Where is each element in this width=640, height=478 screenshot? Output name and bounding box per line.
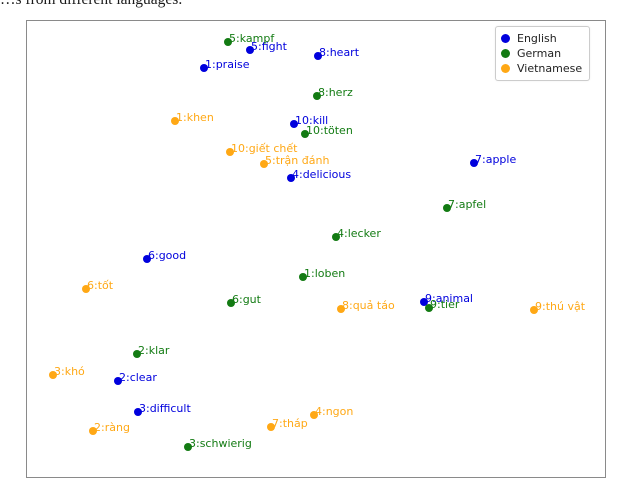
legend-item-vietnamese: Vietnamese [501, 61, 582, 76]
legend-swatch-icon [501, 64, 510, 73]
scatter-point-label: 6:good [148, 250, 186, 262]
scatter-point-label: 3:difficult [139, 403, 191, 415]
chart-legend: EnglishGermanVietnamese [495, 26, 590, 81]
scatter-point-label: 6:gut [232, 294, 261, 306]
legend-item-label: Vietnamese [517, 62, 582, 75]
legend-item-german: German [501, 46, 582, 61]
scatter-point-label: 4:ngon [315, 406, 353, 418]
scatter-point-label: 6:tốt [87, 280, 113, 292]
scatter-point-label: 2:ràng [94, 422, 130, 434]
scatter-point-label: 8:quả táo [342, 300, 395, 312]
scatter-point-label: 4:lecker [337, 228, 381, 240]
scatter-point-label: 8:heart [319, 47, 359, 59]
scatter-point-label: 5:kampf [229, 33, 274, 45]
scatter-point-label: 7:apfel [448, 199, 486, 211]
scatter-point-label: 5:trận đánh [265, 155, 329, 167]
scatter-point-label: 7:tháp [272, 418, 308, 430]
scatter-point-label: 2:klar [138, 345, 169, 357]
scatter-point-label: 9:thú vật [535, 301, 585, 313]
scatter-point-label: 10:töten [306, 125, 353, 137]
legend-swatch-icon [501, 49, 510, 58]
scatter-point-label: 8:herz [318, 87, 353, 99]
scatter-point-label: 4:delicious [292, 169, 351, 181]
scatter-point-label: 1:khen [176, 112, 214, 124]
scatter-point-label: 1:loben [304, 268, 345, 280]
legend-swatch-icon [501, 34, 510, 43]
legend-item-label: German [517, 47, 561, 60]
scatter-point-label: 9:tier [430, 299, 459, 311]
scatter-point-label: 2:clear [119, 372, 157, 384]
scatter-point-label: 1:praise [205, 59, 250, 71]
scatter-point-label: 7:apple [475, 154, 516, 166]
legend-item-label: English [517, 32, 557, 45]
legend-item-english: English [501, 31, 582, 46]
scatter-point-label: 3:khó [54, 366, 85, 378]
scatter-point-label: 3:schwierig [189, 438, 252, 450]
